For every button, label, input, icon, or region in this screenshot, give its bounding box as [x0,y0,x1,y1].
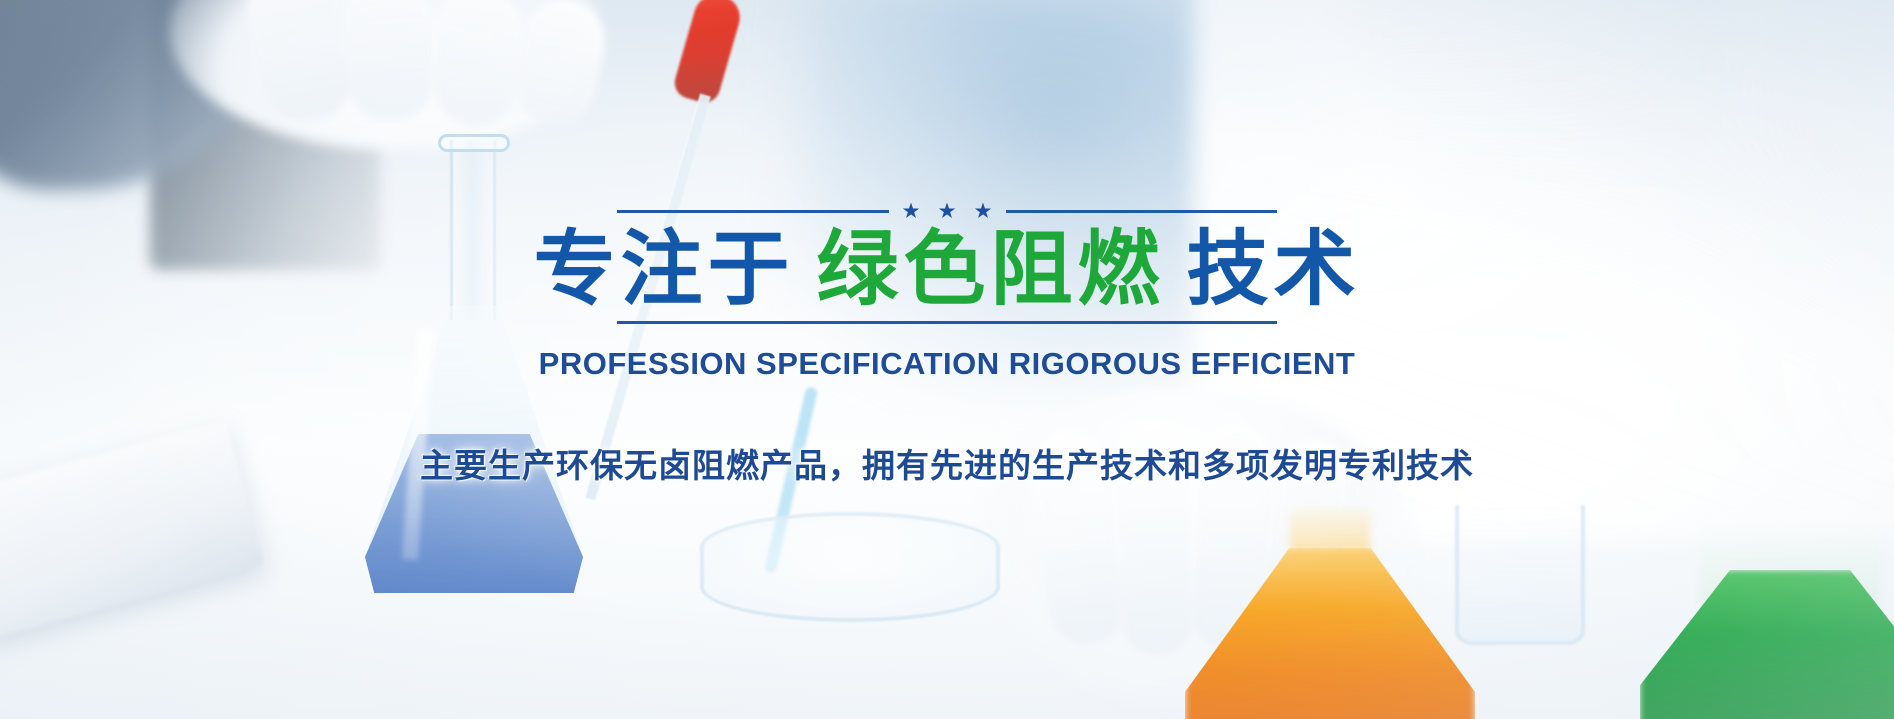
title-part-focus: 专注于 [533,224,794,315]
star-icon [975,203,992,220]
divider-line-right [1006,210,1278,213]
bottom-divider-line [617,321,1277,324]
star-group [903,203,992,220]
page-title: 专注于绿色阻燃技术 [0,226,1894,315]
star-icon [903,203,920,220]
tagline-text: 主要生产环保无卤阻燃产品，拥有先进的生产技术和多项发明专利技术 [0,439,1894,487]
star-icon [939,203,956,220]
divider-line-left [617,210,889,213]
banner-text-block: 专注于绿色阻燃技术 PROFESSION SPECIFICATION RIGOR… [0,200,1894,487]
top-divider-with-stars [617,200,1277,222]
title-part-green-flame-retardant: 绿色阻燃 [816,224,1164,315]
english-subtitle: PROFESSION SPECIFICATION RIGOROUS EFFICI… [0,346,1894,382]
hero-banner: 专注于绿色阻燃技术 PROFESSION SPECIFICATION RIGOR… [0,0,1894,719]
title-part-technology: 技术 [1187,224,1361,315]
